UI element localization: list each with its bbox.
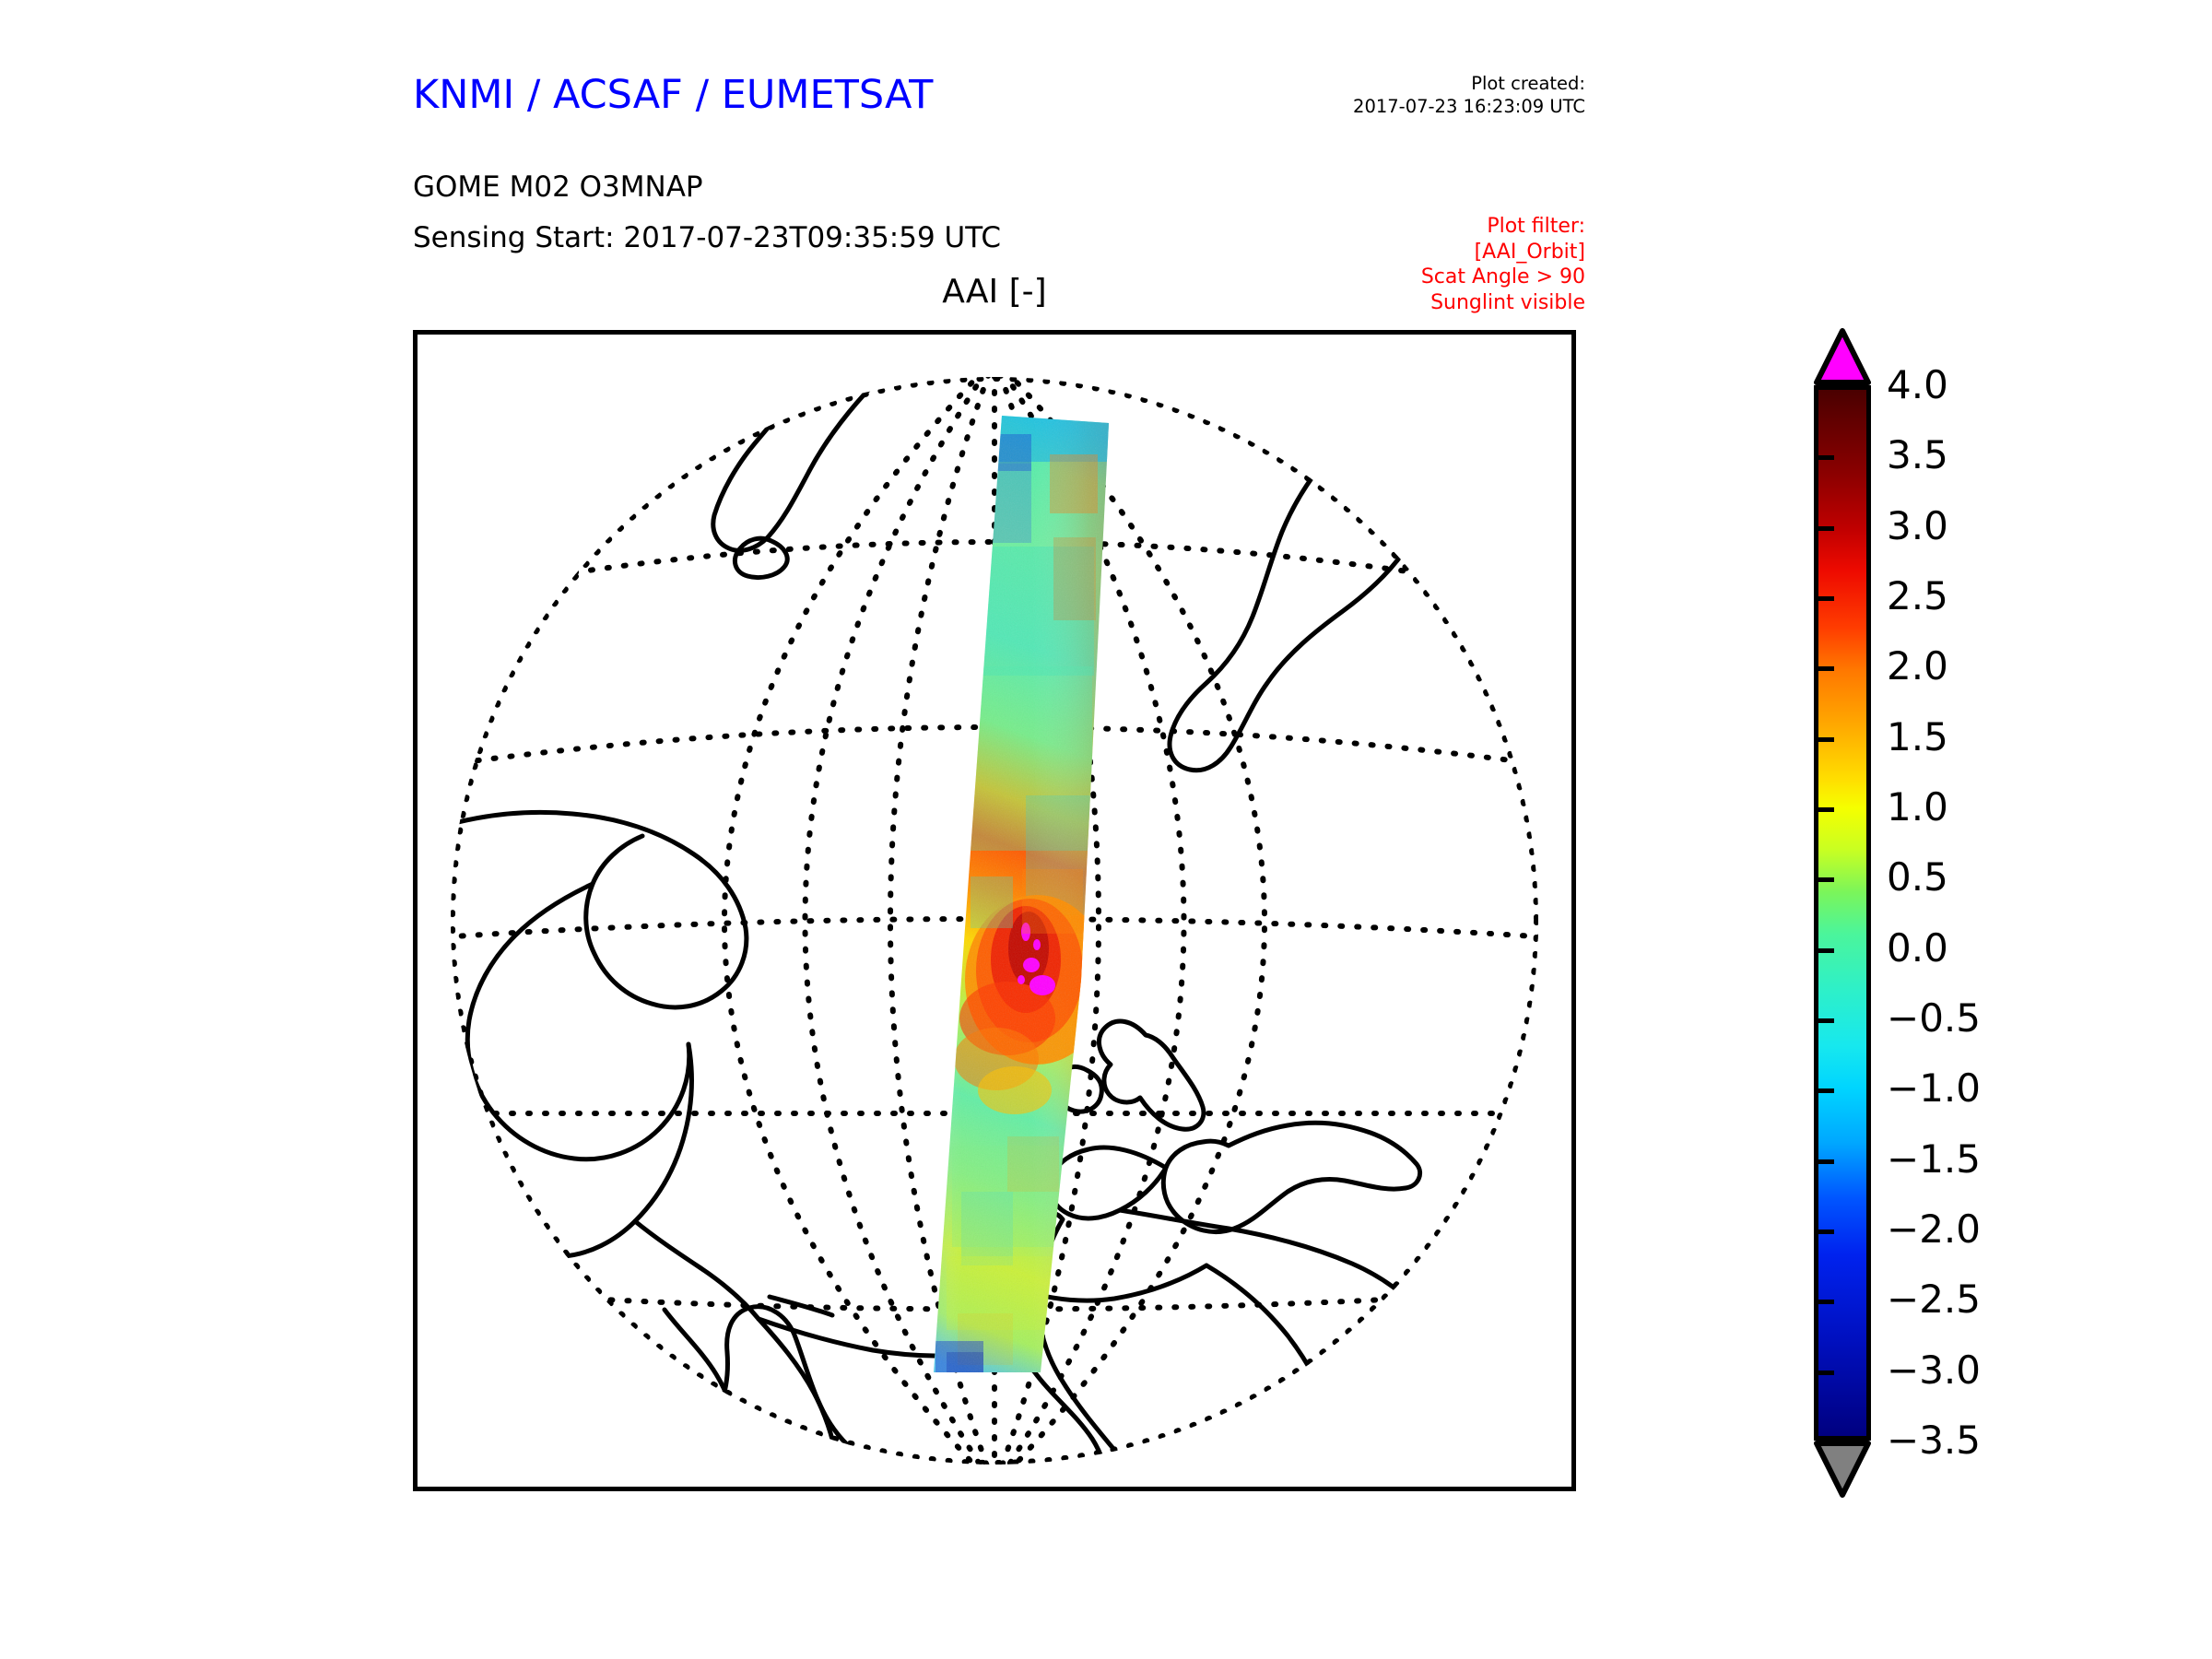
colorbar-tick bbox=[1814, 596, 1834, 601]
colorbar-under-arrow bbox=[1814, 1441, 1871, 1498]
aai-swath bbox=[915, 408, 1127, 1385]
colorbar-tick-label: −1.5 bbox=[1887, 1140, 1981, 1179]
colorbar-bar bbox=[1814, 385, 1871, 1441]
colorbar-tick bbox=[1814, 807, 1834, 812]
colorbar-tick-label: −3.5 bbox=[1887, 1421, 1981, 1460]
colorbar-over-arrow bbox=[1814, 328, 1871, 385]
colorbar: 4.03.53.02.52.01.51.00.50.0−0.5−1.0−1.5−… bbox=[1802, 323, 2171, 1512]
axes-title: AAI [-] bbox=[413, 273, 1576, 311]
plot-created-label: Plot created: bbox=[1106, 72, 1585, 95]
colorbar-tick bbox=[1814, 1088, 1834, 1093]
colorbar-tick bbox=[1814, 1018, 1834, 1023]
colorbar-tick-label: −2.0 bbox=[1887, 1210, 1981, 1249]
sensing-start: Sensing Start: 2017-07-23T09:35:59 UTC bbox=[413, 221, 1001, 254]
plot-filter-line-2: [AAI_Orbit] bbox=[1143, 240, 1585, 265]
map-plot-area bbox=[413, 330, 1576, 1491]
colorbar-tick-label: −0.5 bbox=[1887, 999, 1981, 1038]
colorbar-tick-label: 2.5 bbox=[1887, 577, 1948, 616]
colorbar-tick-label: −2.5 bbox=[1887, 1280, 1981, 1319]
colorbar-tick bbox=[1814, 877, 1834, 882]
colorbar-tick-label: −3.0 bbox=[1887, 1351, 1981, 1390]
colorbar-tick-label: 0.0 bbox=[1887, 929, 1948, 968]
organisation-title: KNMI / ACSAF / EUMETSAT bbox=[413, 72, 933, 118]
colorbar-tick-label: −1.0 bbox=[1887, 1069, 1981, 1108]
colorbar-tick-label: 3.0 bbox=[1887, 507, 1948, 546]
product-name: GOME M02 O3MNAP bbox=[413, 171, 703, 204]
colorbar-tick-label: 0.5 bbox=[1887, 858, 1948, 897]
colorbar-tick bbox=[1814, 1371, 1834, 1375]
colorbar-tick-label: 1.0 bbox=[1887, 788, 1948, 827]
plot-created-value: 2017-07-23 16:23:09 UTC bbox=[1106, 95, 1585, 118]
colorbar-tick bbox=[1814, 455, 1834, 460]
plot-filter-line-1: Plot filter: bbox=[1143, 214, 1585, 240]
plot-created-block: Plot created: 2017-07-23 16:23:09 UTC bbox=[1106, 72, 1585, 118]
colorbar-tick bbox=[1814, 948, 1834, 953]
colorbar-tick bbox=[1814, 666, 1834, 671]
colorbar-tick bbox=[1814, 1159, 1834, 1164]
colorbar-tick bbox=[1814, 737, 1834, 742]
colorbar-tick-label: 1.5 bbox=[1887, 718, 1948, 757]
colorbar-gradient bbox=[1818, 390, 1866, 1436]
colorbar-tick bbox=[1814, 1230, 1834, 1234]
colorbar-tick bbox=[1814, 526, 1834, 531]
map-canvas bbox=[418, 335, 1571, 1487]
colorbar-tick bbox=[1814, 1300, 1834, 1304]
colorbar-tick-label: 4.0 bbox=[1887, 366, 1948, 405]
colorbar-tick-label: 2.0 bbox=[1887, 647, 1948, 686]
colorbar-tick-label: 3.5 bbox=[1887, 436, 1948, 475]
